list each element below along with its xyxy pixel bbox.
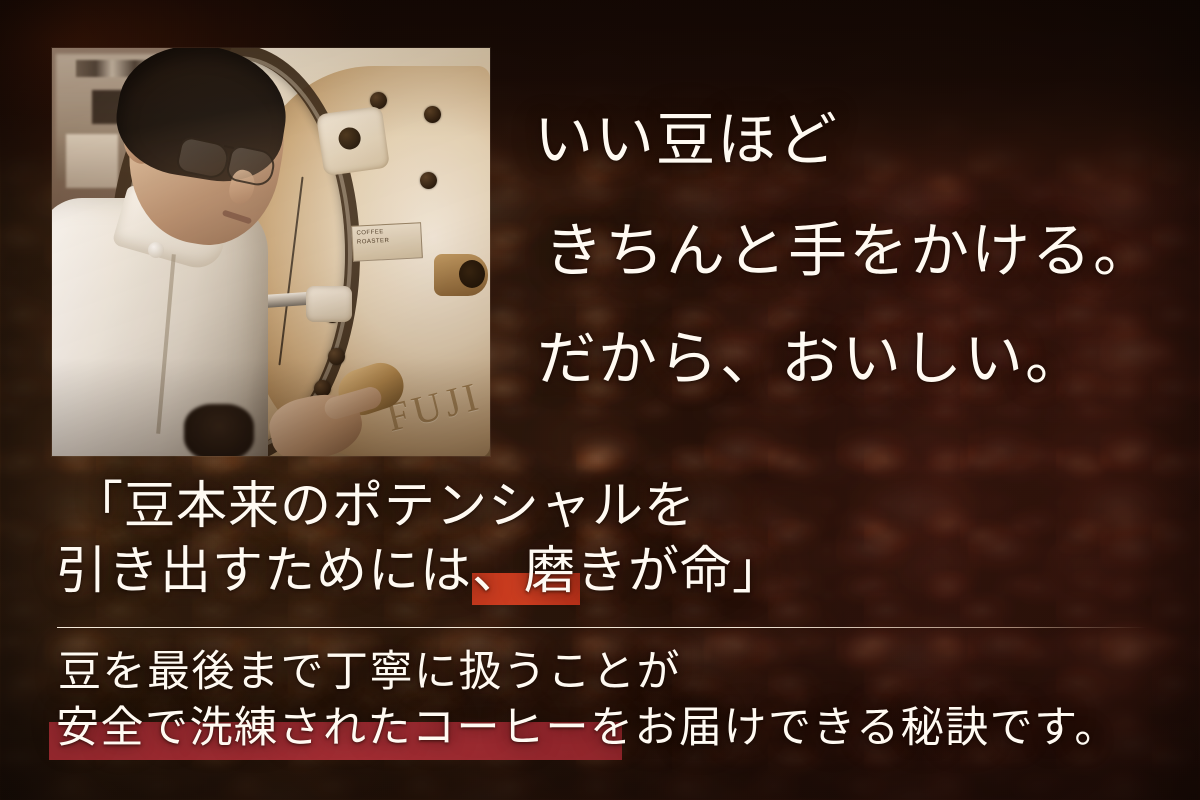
body-line-1: 豆を最後まで丁寧に扱うことが — [58, 651, 681, 694]
photo-light-bloom — [52, 48, 490, 456]
headline-line-1: いい豆ほど — [534, 111, 839, 170]
roaster-photo: COFFEE ROASTER FUJI — [52, 48, 490, 456]
quote-line-1: 「豆本来のポテンシャルを — [72, 482, 696, 533]
horizontal-divider — [57, 627, 1147, 628]
coffee-hero-banner: COFFEE ROASTER FUJI いい豆ほど きちんと手をかける。 だから… — [0, 0, 1200, 800]
headline-line-2: きちんと手をかける。 — [544, 222, 1154, 281]
body-line-2: 安全で洗練されたコーヒーをお届けできる秘訣です。 — [56, 707, 1119, 750]
quote-line-2: 引き出すためには、磨きが命」 — [56, 547, 784, 598]
headline-line-3: だから、おいしい。 — [537, 330, 1086, 389]
